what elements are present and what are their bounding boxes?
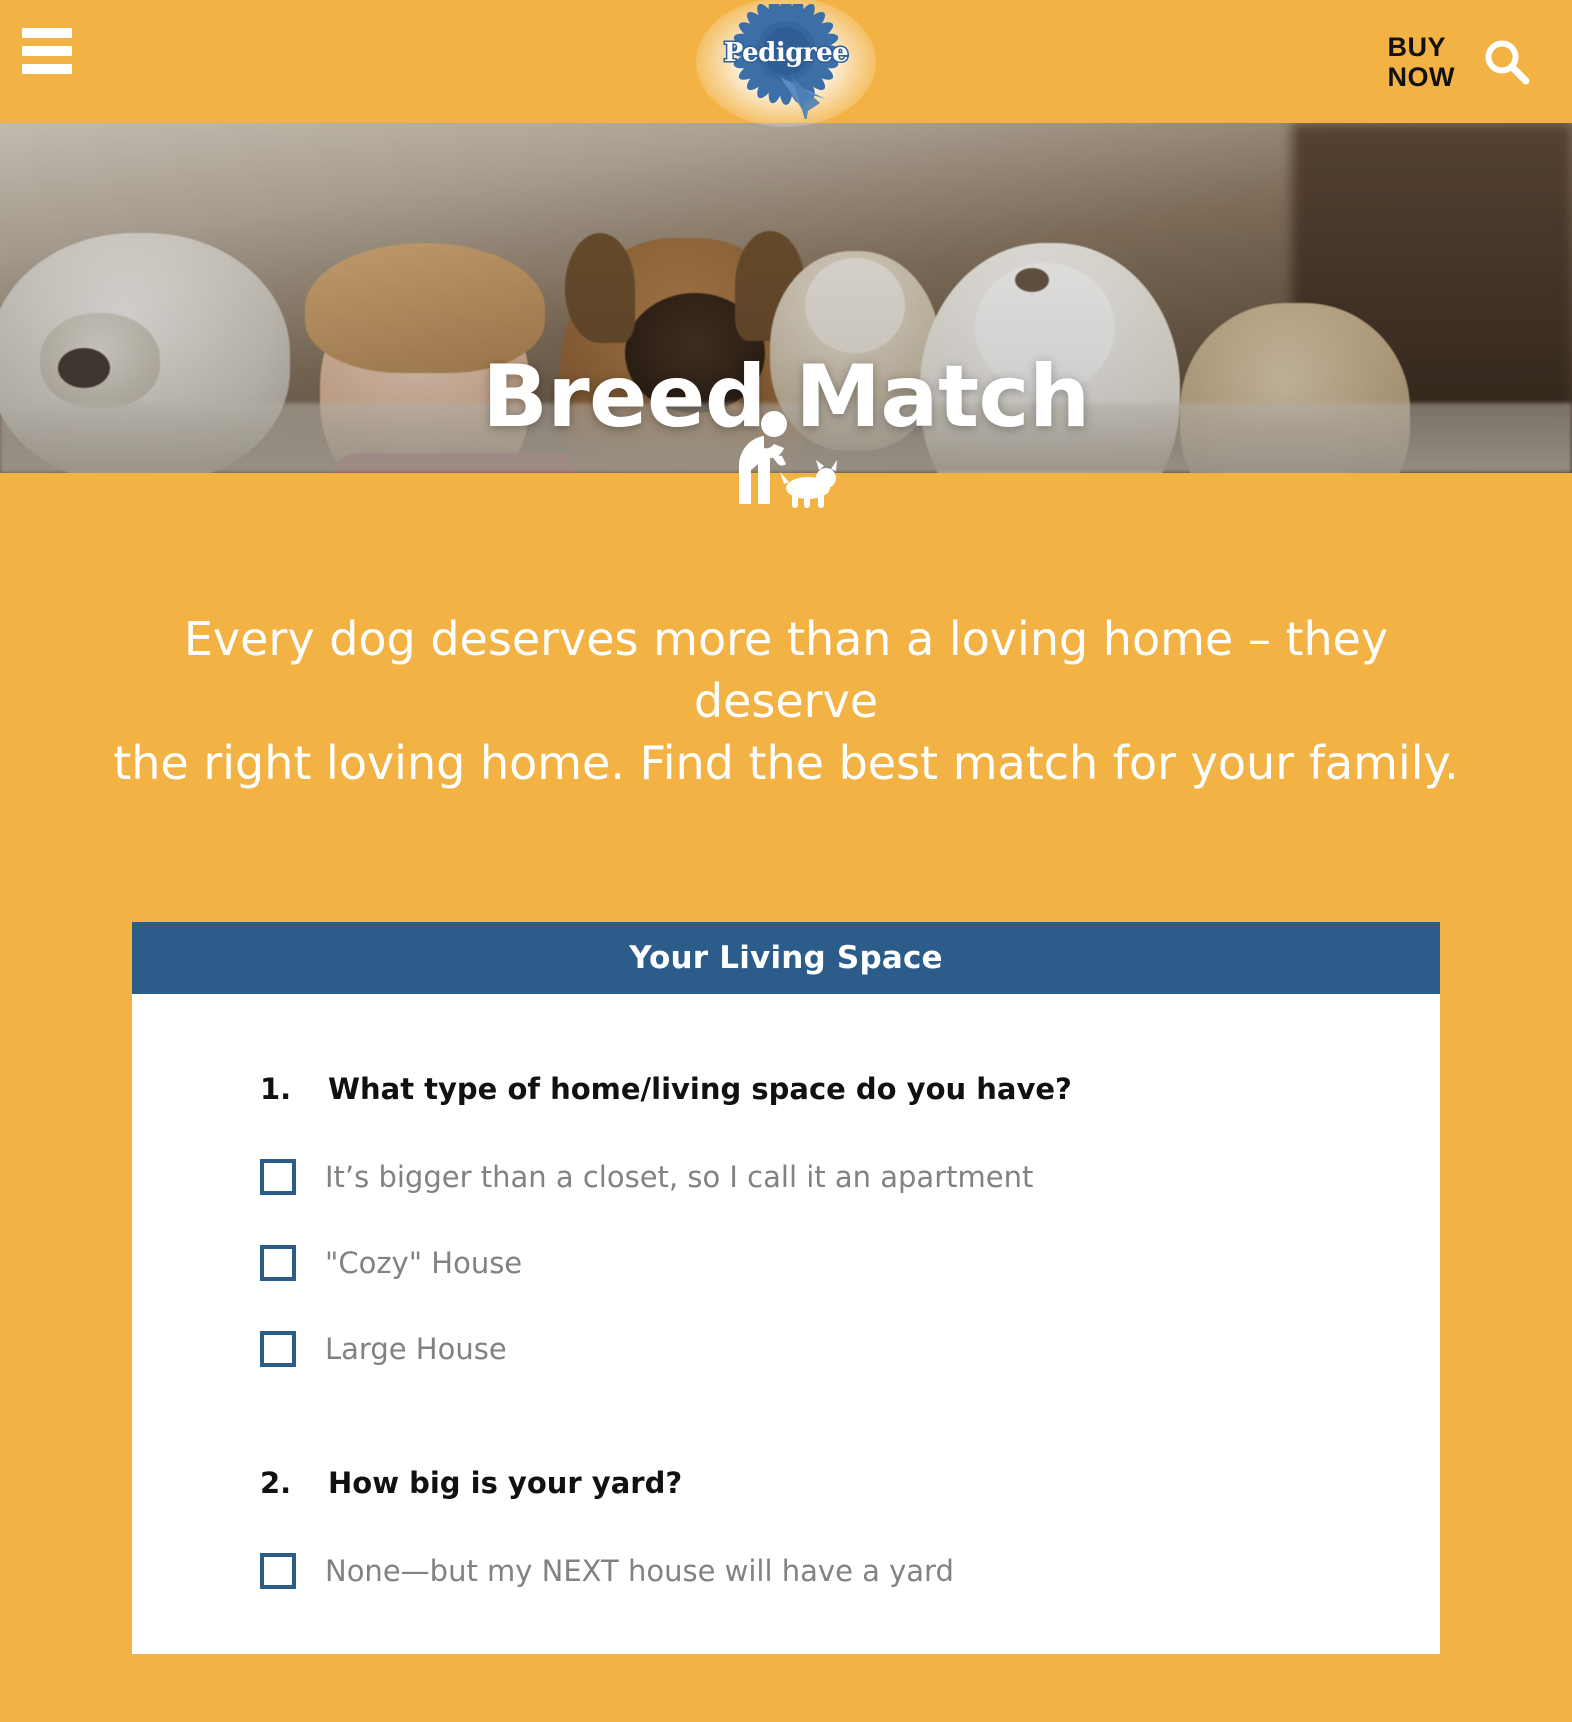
option-row[interactable]: "Cozy" House — [132, 1220, 1440, 1306]
option-label: None—but my NEXT house will have a yard — [325, 1554, 954, 1588]
buy-now-button[interactable]: BUY NOW — [1388, 32, 1455, 92]
intro-line-2: the right loving home. Find the best mat… — [86, 732, 1486, 794]
pedigree-rosette-icon: Pedigree — [711, 4, 861, 119]
option-row[interactable]: None—but my NEXT house will have a yard — [132, 1528, 1440, 1614]
question-text: How big is your yard? — [328, 1466, 682, 1500]
buy-now-line-2: NOW — [1388, 62, 1455, 92]
pedigree-logo-text: Pedigree — [724, 38, 848, 68]
hamburger-bar-1 — [22, 28, 72, 38]
breed-match-page: Pedigree BUY NOW — [0, 0, 1572, 1722]
option-label: Large House — [325, 1332, 507, 1366]
site-header: Pedigree BUY NOW — [0, 0, 1572, 123]
intro-text: Every dog deserves more than a loving ho… — [86, 473, 1486, 794]
question-number: 2. — [260, 1466, 328, 1500]
search-icon[interactable] — [1480, 35, 1534, 89]
quiz-body: 1. What type of home/living space do you… — [132, 994, 1440, 1654]
hamburger-menu-icon[interactable] — [22, 28, 72, 74]
option-label: "Cozy" House — [325, 1246, 522, 1280]
question-block: 1. What type of home/living space do you… — [132, 1072, 1440, 1392]
question-row: 2. How big is your yard? — [132, 1466, 1440, 1500]
question-block: 2. How big is your yard? None—but my NEX… — [132, 1466, 1440, 1614]
intro-line-1: Every dog deserves more than a loving ho… — [86, 608, 1486, 732]
checkbox-icon[interactable] — [260, 1159, 296, 1195]
option-row[interactable]: Large House — [132, 1306, 1440, 1392]
hamburger-bar-2 — [22, 46, 72, 56]
checkbox-icon[interactable] — [260, 1245, 296, 1281]
buy-now-line-1: BUY — [1388, 32, 1455, 62]
quiz-card: Your Living Space 1. What type of home/l… — [132, 922, 1440, 1654]
option-row[interactable]: Itʼs bigger than a closet, so I call it … — [132, 1134, 1440, 1220]
question-text: What type of home/living space do you ha… — [328, 1072, 1072, 1106]
question-row: 1. What type of home/living space do you… — [132, 1072, 1440, 1106]
hamburger-bar-3 — [22, 64, 72, 74]
checkbox-icon[interactable] — [260, 1553, 296, 1589]
option-label: Itʼs bigger than a closet, so I call it … — [325, 1160, 1033, 1194]
question-number: 1. — [260, 1072, 328, 1106]
quiz-section-header: Your Living Space — [132, 922, 1440, 994]
pedigree-logo[interactable]: Pedigree — [671, 0, 901, 127]
person-with-dog-icon — [734, 408, 838, 508]
checkbox-icon[interactable] — [260, 1331, 296, 1367]
quiz-section-title: Your Living Space — [629, 940, 943, 976]
